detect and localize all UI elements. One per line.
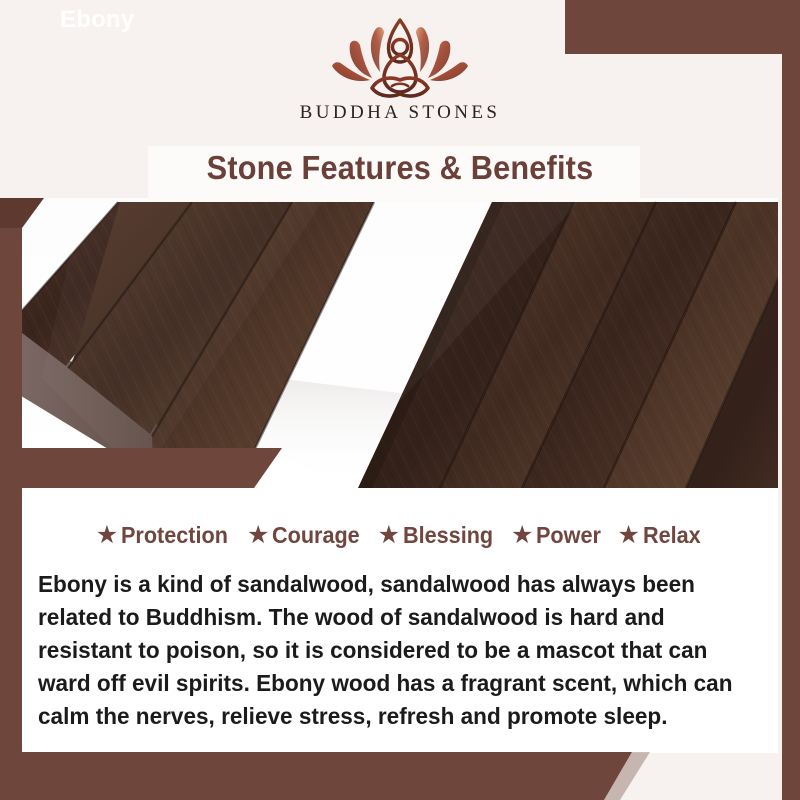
lotus-meditation-figure-icon — [320, 14, 480, 100]
feature-label: Relax — [643, 522, 701, 549]
product-label-bar — [22, 448, 282, 488]
infographic-card: BUDDHA STONES Stone Features & Benefits — [0, 0, 800, 800]
feature-list: ★ Protection ★ Courage ★ Blessing ★ Powe… — [22, 522, 778, 549]
feature-label: Protection — [121, 522, 228, 549]
star-icon: ★ — [511, 523, 533, 548]
feature-label: Power — [536, 522, 601, 549]
page-title: Stone Features & Benefits — [28, 149, 772, 187]
feature-item: ★ Blessing — [378, 522, 499, 549]
ebony-wood-planks-image — [22, 198, 778, 488]
feature-item: ★ Courage — [247, 522, 366, 549]
feature-item: ★ Power — [511, 522, 605, 549]
feature-label: Blessing — [403, 522, 493, 549]
feature-item: ★ Relax — [617, 522, 704, 549]
product-photo — [22, 198, 778, 488]
star-icon: ★ — [247, 523, 269, 548]
product-label: Ebony — [60, 0, 134, 40]
star-icon: ★ — [96, 523, 118, 548]
label-bar-shape — [22, 448, 282, 488]
brand-wordmark: BUDDHA STONES — [300, 102, 501, 124]
content-panel: ★ Protection ★ Courage ★ Blessing ★ Powe… — [22, 488, 778, 753]
feature-item: ★ Protection — [96, 522, 235, 549]
description-text: Ebony is a kind of sandalwood, sandalwoo… — [38, 568, 737, 733]
star-icon: ★ — [617, 523, 639, 548]
feature-label: Courage — [272, 522, 360, 549]
star-icon: ★ — [378, 523, 400, 548]
